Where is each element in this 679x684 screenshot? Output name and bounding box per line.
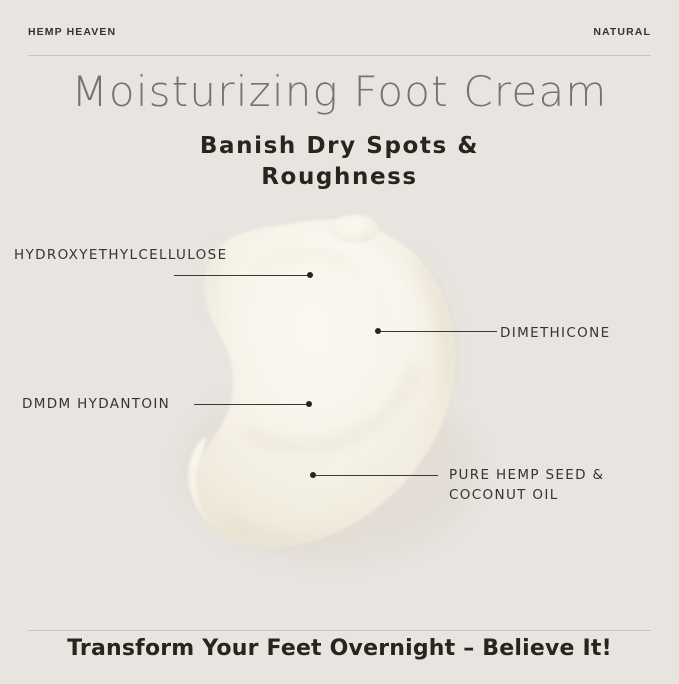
cream-bottom-shading — [226, 510, 360, 544]
leader-line-dmdm-hydantoin — [194, 404, 308, 405]
callout-label-pure-hemp-seed-coconut-oil-line-1: PURE HEMP SEED & — [449, 466, 604, 486]
page-subtitle-line-1: Banish Dry Spots & — [0, 131, 679, 162]
leader-line-dimethicone — [381, 331, 497, 332]
leader-dot-hydroxyethylcellulose — [307, 272, 313, 278]
callout-label-dimethicone: DIMETHICONE — [500, 324, 610, 344]
callout-label-pure-hemp-seed-coconut-oil-line-2: COCONUT OIL — [449, 486, 559, 506]
cream-left-shading — [194, 245, 278, 546]
callout-label-dmdm-hydantoin: DMDM HYDANTOIN — [22, 395, 170, 415]
brand-name-right: NATURAL — [593, 26, 651, 38]
divider-top — [28, 55, 651, 56]
infographic-canvas: HEMP HEAVEN NATURAL Moisturizing Foot Cr… — [0, 0, 679, 679]
footer-tagline: Transform Your Feet Overnight – Believe … — [0, 636, 679, 661]
cream-ambient-shadow — [180, 378, 480, 562]
leader-dot-dmdm-hydantoin — [306, 401, 312, 407]
page-subtitle: Banish Dry Spots & Roughness — [0, 131, 679, 192]
cream-bottom-lobe — [188, 436, 216, 528]
brand-name-left: HEMP HEAVEN — [28, 26, 116, 38]
leader-line-hydroxyethylcellulose — [174, 275, 308, 276]
leader-line-pure-hemp-seed-coconut-oil — [316, 475, 438, 476]
page-title: Moisturizing Foot Cream — [0, 68, 679, 116]
page-subtitle-line-2: Roughness — [0, 162, 679, 193]
cream-crease-mid — [246, 366, 416, 447]
cream-crease-upper — [254, 254, 352, 272]
cream-right-shading — [335, 254, 455, 534]
callout-label-hydroxyethylcellulose: HYDROXYETHYLCELLULOSE — [14, 246, 227, 266]
cream-body-shape — [194, 220, 455, 548]
cream-top-nub — [329, 215, 379, 243]
brand-bar: HEMP HEAVEN NATURAL — [28, 23, 651, 41]
divider-bottom — [28, 630, 651, 631]
